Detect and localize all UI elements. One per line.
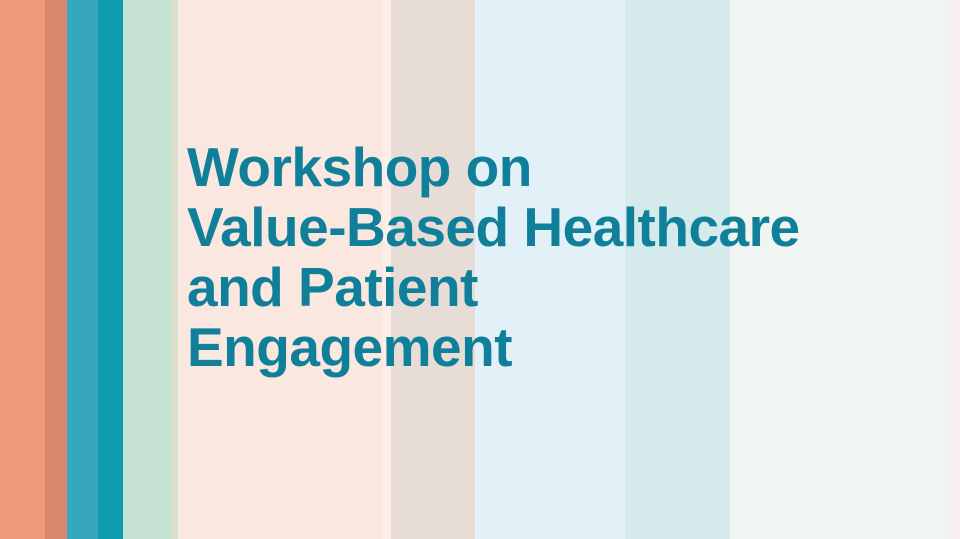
title-slide: Workshop on Value-Based Healthcare and P… bbox=[0, 0, 960, 539]
band-salmon bbox=[0, 0, 45, 539]
title-line-3: and Patient bbox=[187, 257, 947, 317]
band-mint bbox=[123, 0, 170, 539]
band-salmon-dark bbox=[45, 0, 67, 539]
band-teal-medium bbox=[67, 0, 98, 539]
title-line-2: Value-Based Healthcare bbox=[187, 197, 947, 257]
title-line-1: Workshop on bbox=[187, 137, 947, 197]
band-edge-pink bbox=[950, 0, 960, 539]
title-line-4: Engagement bbox=[187, 317, 947, 377]
band-sage-pale bbox=[170, 0, 178, 539]
band-teal-dark bbox=[98, 0, 123, 539]
page-title: Workshop on Value-Based Healthcare and P… bbox=[187, 137, 947, 377]
